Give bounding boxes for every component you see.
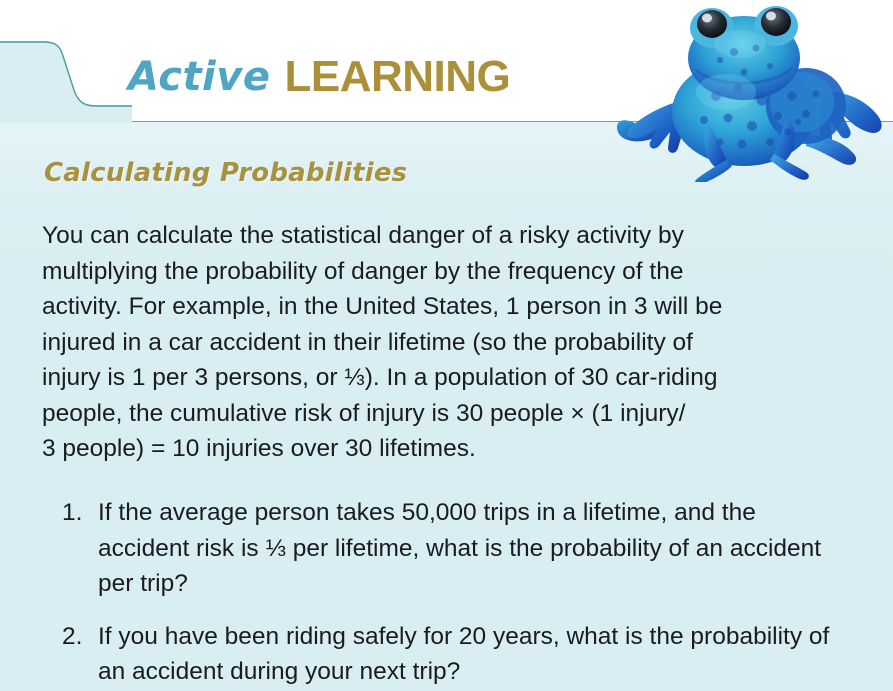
body-line-4: injured in a car accident in their lifet… <box>42 325 854 361</box>
question-number: 2. <box>62 619 98 655</box>
body-line-2: multiplying the probability of danger by… <box>42 254 854 290</box>
title-active-word: Active <box>128 54 270 100</box>
body-line-7: 3 people) = 10 injuries over 30 lifetime… <box>42 431 854 467</box>
body-line-1: You can calculate the statistical danger… <box>42 218 854 254</box>
page-title: Active LEARNING <box>128 48 510 106</box>
body-line-6: people, the cumulative risk of injury is… <box>42 396 854 432</box>
question-number: 1. <box>62 495 98 531</box>
question-text: If the average person takes 50,000 trips… <box>98 495 852 602</box>
list-item: 1. If the average person takes 50,000 tr… <box>62 495 852 602</box>
frog-illustration <box>592 0 893 182</box>
title-learning-word: LEARNING <box>284 52 510 102</box>
blue-frog-icon <box>592 0 893 182</box>
tab-notch-shape <box>0 41 132 123</box>
section-subtitle: Calculating Probabilities <box>44 158 407 188</box>
list-item: 2. If you have been riding safely for 20… <box>62 619 852 690</box>
body-line-5: injury is 1 per 3 persons, or ⅓). In a p… <box>42 360 854 396</box>
body-paragraph: You can calculate the statistical danger… <box>42 218 854 467</box>
tab-notch-curve-icon <box>0 41 132 123</box>
body-line-3: activity. For example, in the United Sta… <box>42 289 854 325</box>
questions-list: 1. If the average person takes 50,000 tr… <box>62 495 852 691</box>
question-text: If you have been riding safely for 20 ye… <box>98 619 852 690</box>
active-learning-panel: Active LEARNING <box>0 0 893 691</box>
